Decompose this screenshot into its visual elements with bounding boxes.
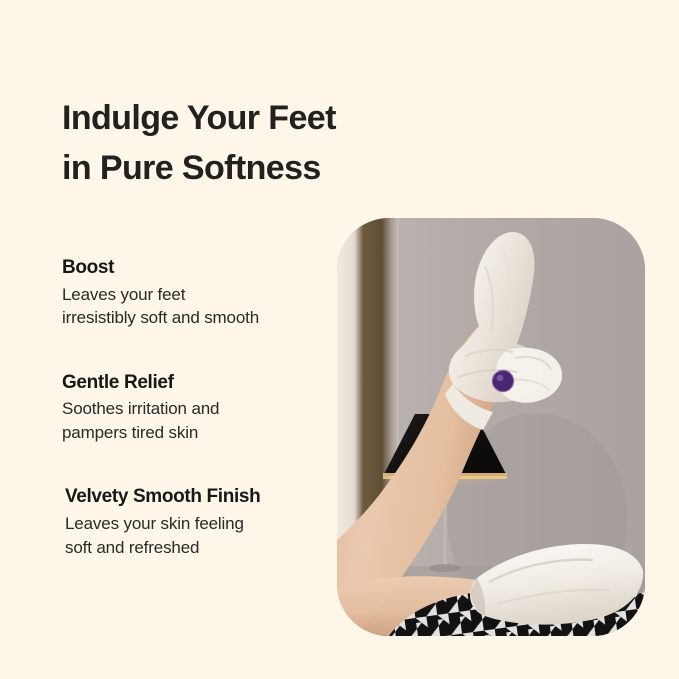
feature-item-velvety-smooth-finish: Velvety Smooth Finish Leaves your skin f…: [62, 485, 342, 559]
feature-description: Leaves your feet irresistibly soft and s…: [62, 283, 342, 330]
headline-line-1: Indulge Your Feet: [62, 93, 392, 143]
feature-item-gentle-relief: Gentle Relief Soothes irritation and pam…: [62, 371, 342, 445]
product-lifestyle-photo: [337, 218, 645, 636]
feature-title: Velvety Smooth Finish: [65, 485, 342, 509]
feature-description-line: Leaves your feet: [62, 283, 342, 306]
feature-description-line: soft and refreshed: [65, 536, 342, 559]
feature-description-line: Leaves your skin feeling: [65, 512, 342, 535]
feature-description: Soothes irritation and pampers tired ski…: [62, 397, 342, 444]
feature-list: Boost Leaves your feet irresistibly soft…: [62, 256, 342, 559]
feature-description-line: pampers tired skin: [62, 421, 342, 444]
promo-page: Indulge Your Feet in Pure Softness Boost…: [0, 0, 679, 679]
feature-description-line: irresistibly soft and smooth: [62, 306, 342, 329]
headline-line-2: in Pure Softness: [62, 143, 392, 193]
feature-title: Boost: [62, 256, 342, 280]
feature-item-boost: Boost Leaves your feet irresistibly soft…: [62, 256, 342, 330]
feature-description-line: Soothes irritation and: [62, 397, 342, 420]
page-title: Indulge Your Feet in Pure Softness: [62, 93, 392, 194]
purple-button-detail: [493, 371, 514, 392]
feature-title: Gentle Relief: [62, 371, 342, 395]
feature-description: Leaves your skin feeling soft and refres…: [65, 512, 342, 559]
photo-illustration: [337, 218, 645, 636]
